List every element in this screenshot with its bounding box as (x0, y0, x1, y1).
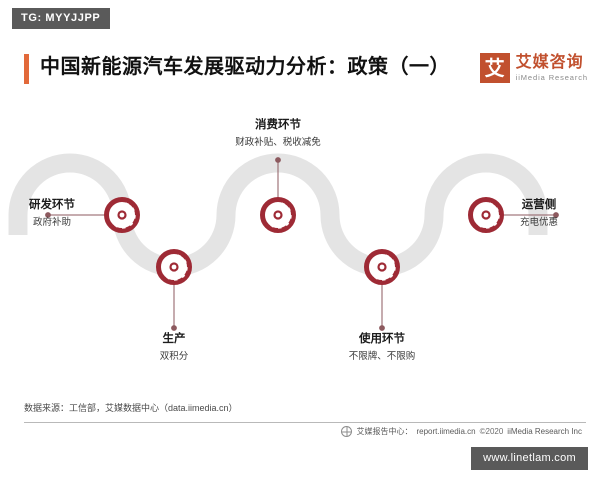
logo-name-cn: 艾媒咨询 (516, 55, 588, 71)
flow-node-usage (367, 252, 398, 283)
node-label-rd: 研发环节 政府补助 (0, 198, 112, 230)
node-title-usage: 使用环节 (307, 332, 457, 347)
node-title-production: 生产 (114, 332, 234, 347)
footer-company: iiMedia Research Inc (507, 427, 582, 436)
globe-icon (341, 426, 352, 437)
node-label-operation: 运营侧 充电优惠 (484, 198, 594, 230)
process-flow-diagram: 研发环节 政府补助 生产 双积分 消费环节 财政补贴、税收减免 使用环节 不限牌… (0, 110, 600, 385)
data-source-note: 数据来源：工信部，艾媒数据中心（data.iimedia.cn） (24, 401, 238, 414)
logo-text: 艾媒咨询 iiMedia Research (516, 55, 588, 82)
iimedia-logo: 艾 艾媒咨询 iiMedia Research (480, 53, 588, 83)
node-sub-consumption: 财政补贴、税收减免 (188, 135, 368, 150)
node-title-rd: 研发环节 (0, 198, 112, 213)
slide-canvas: TG: MYYJJPP 中国新能源汽车发展驱动力分析：政策（一） 艾 艾媒咨询 … (0, 0, 600, 480)
logo-name-en: iiMedia Research (516, 74, 588, 82)
node-sub-usage: 不限牌、不限购 (307, 349, 457, 364)
node-label-consumption: 消费环节 财政补贴、税收减免 (188, 118, 368, 150)
footer-report-url[interactable]: report.iimedia.cn (416, 427, 475, 436)
node-sub-production: 双积分 (114, 349, 234, 364)
node-label-usage: 使用环节 不限牌、不限购 (307, 332, 457, 364)
node-sub-rd: 政府补助 (0, 215, 112, 230)
node-label-production: 生产 双积分 (114, 332, 234, 364)
watermark-badge: www.linetlam.com (471, 447, 588, 470)
tg-tag: TG: MYYJJPP (12, 8, 110, 29)
footer-credits: 艾媒报告中心： report.iimedia.cn ©2020 iiMedia … (341, 426, 582, 437)
node-sub-operation: 充电优惠 (484, 215, 594, 230)
node-title-consumption: 消费环节 (188, 118, 368, 133)
footer-report-center-label: 艾媒报告中心： (356, 426, 412, 437)
logo-mark-icon: 艾 (480, 53, 510, 83)
flow-node-consumption (263, 200, 294, 231)
flow-node-production (159, 252, 190, 283)
node-title-operation: 运营侧 (484, 198, 594, 213)
footer-divider (24, 422, 586, 423)
slide-footer: 艾媒报告中心： report.iimedia.cn ©2020 iiMedia … (24, 424, 586, 444)
title-accent-bar (24, 54, 29, 84)
footer-copyright: ©2020 (480, 427, 504, 436)
page-title: 中国新能源汽车发展驱动力分析：政策（一） (40, 50, 450, 84)
